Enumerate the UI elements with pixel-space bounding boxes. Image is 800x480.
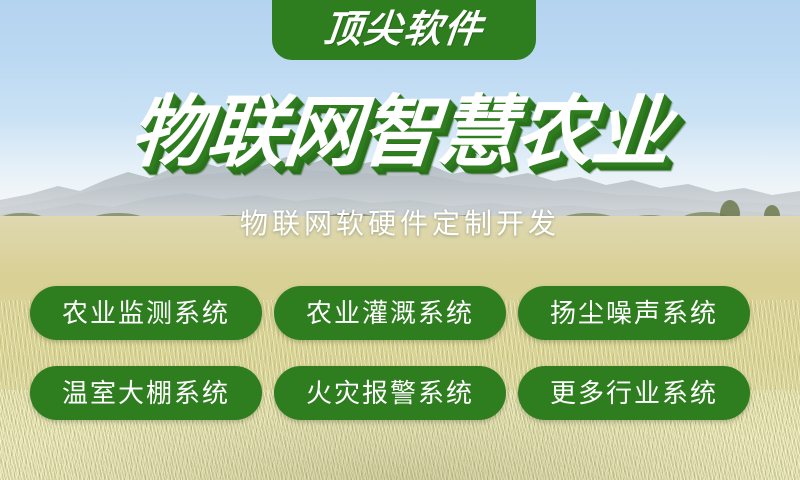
category-button-label: 农业灌溉系统 [306, 300, 474, 326]
page-subtitle: 物联网软硬件定制开发 [240, 209, 560, 240]
promo-banner-stage: 顶尖软件 物联网智慧农业 物联网软硬件定制开发 农业监测系统 农业灌溉系统 扬尘… [0, 0, 800, 480]
category-button-label: 农业监测系统 [62, 300, 230, 326]
category-button-more-industries[interactable]: 更多行业系统 [518, 366, 750, 420]
category-button-greenhouse[interactable]: 温室大棚系统 [30, 366, 262, 420]
category-button-label: 扬尘噪声系统 [550, 300, 718, 326]
page-title: 物联网智慧农业 [127, 93, 673, 171]
subtitle-container: 物联网软硬件定制开发 [0, 209, 800, 240]
category-button-agri-monitoring[interactable]: 农业监测系统 [30, 286, 262, 340]
brand-banner-text: 顶尖软件 [322, 7, 486, 49]
category-button-agri-irrigation[interactable]: 农业灌溉系统 [274, 286, 506, 340]
category-button-fire-alarm[interactable]: 火灾报警系统 [274, 366, 506, 420]
category-button-label: 火灾报警系统 [306, 380, 474, 406]
category-button-dust-noise[interactable]: 扬尘噪声系统 [518, 286, 750, 340]
category-button-label: 温室大棚系统 [62, 380, 230, 406]
system-category-grid: 农业监测系统 农业灌溉系统 扬尘噪声系统 温室大棚系统 火灾报警系统 更多行业系… [30, 286, 770, 420]
headline-container: 物联网智慧农业 [0, 93, 800, 171]
category-button-label: 更多行业系统 [550, 380, 718, 406]
brand-banner: 顶尖软件 [272, 0, 536, 60]
